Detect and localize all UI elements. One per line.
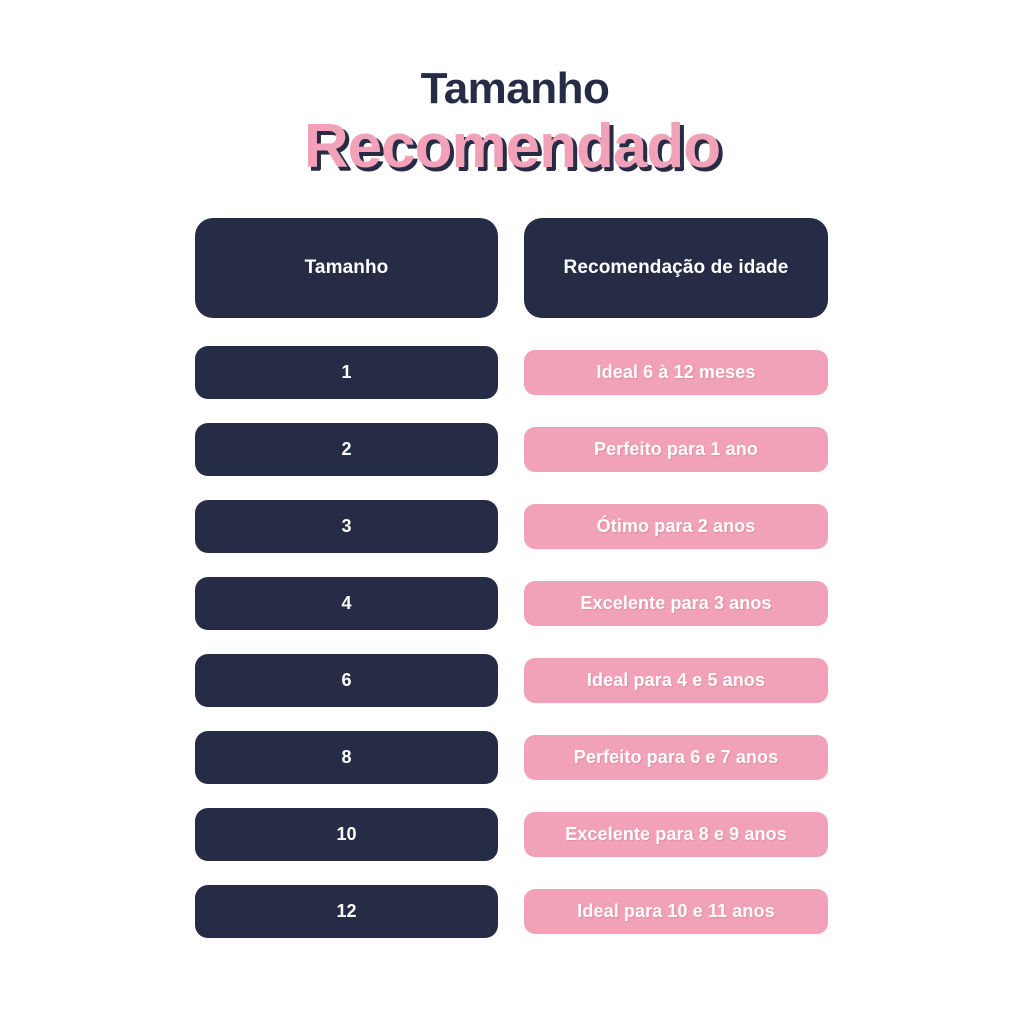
age-recommendation: Perfeito para 6 e 7 anos	[524, 735, 828, 780]
age-cell-wrapper: Ideal para 4 e 5 anos	[524, 654, 828, 707]
table-row: 1 Ideal 6 à 12 meses	[195, 346, 828, 399]
age-recommendation: Ideal para 10 e 11 anos	[524, 889, 828, 934]
age-cell-wrapper: Excelente para 3 anos	[524, 577, 828, 630]
size-value: 4	[195, 577, 498, 630]
table-row: 6 Ideal para 4 e 5 anos	[195, 654, 828, 707]
column-header-size: Tamanho	[195, 218, 498, 318]
age-recommendation: Ideal para 4 e 5 anos	[524, 658, 828, 703]
table-header-row: Tamanho Recomendação de idade	[195, 218, 828, 318]
table-row: 4 Excelente para 3 anos	[195, 577, 828, 630]
table-row: 3 Ótimo para 2 anos	[195, 500, 828, 553]
age-recommendation: Perfeito para 1 ano	[524, 427, 828, 472]
page-title: Tamanho Recomendado	[0, 66, 1024, 179]
title-line-secondary: Recomendado	[0, 114, 1024, 179]
size-value: 8	[195, 731, 498, 784]
age-recommendation: Excelente para 8 e 9 anos	[524, 812, 828, 857]
size-value: 6	[195, 654, 498, 707]
age-recommendation: Ótimo para 2 anos	[524, 504, 828, 549]
age-cell-wrapper: Excelente para 8 e 9 anos	[524, 808, 828, 861]
size-value: 2	[195, 423, 498, 476]
age-recommendation: Ideal 6 à 12 meses	[524, 350, 828, 395]
size-value: 10	[195, 808, 498, 861]
size-recommendation-table: Tamanho Recomendação de idade 1 Ideal 6 …	[195, 218, 828, 938]
age-cell-wrapper: Ideal para 10 e 11 anos	[524, 885, 828, 938]
size-value: 1	[195, 346, 498, 399]
table-row: 12 Ideal para 10 e 11 anos	[195, 885, 828, 938]
size-value: 3	[195, 500, 498, 553]
table-row: 10 Excelente para 8 e 9 anos	[195, 808, 828, 861]
age-cell-wrapper: Perfeito para 1 ano	[524, 423, 828, 476]
age-cell-wrapper: Perfeito para 6 e 7 anos	[524, 731, 828, 784]
age-recommendation: Excelente para 3 anos	[524, 581, 828, 626]
age-cell-wrapper: Ideal 6 à 12 meses	[524, 346, 828, 399]
age-cell-wrapper: Ótimo para 2 anos	[524, 500, 828, 553]
title-line-primary: Tamanho	[6, 66, 1024, 112]
column-header-age: Recomendação de idade	[524, 218, 828, 318]
size-value: 12	[195, 885, 498, 938]
table-row: 2 Perfeito para 1 ano	[195, 423, 828, 476]
table-row: 8 Perfeito para 6 e 7 anos	[195, 731, 828, 784]
size-chart-poster: Tamanho Recomendado Tamanho Recomendação…	[0, 0, 1024, 1024]
